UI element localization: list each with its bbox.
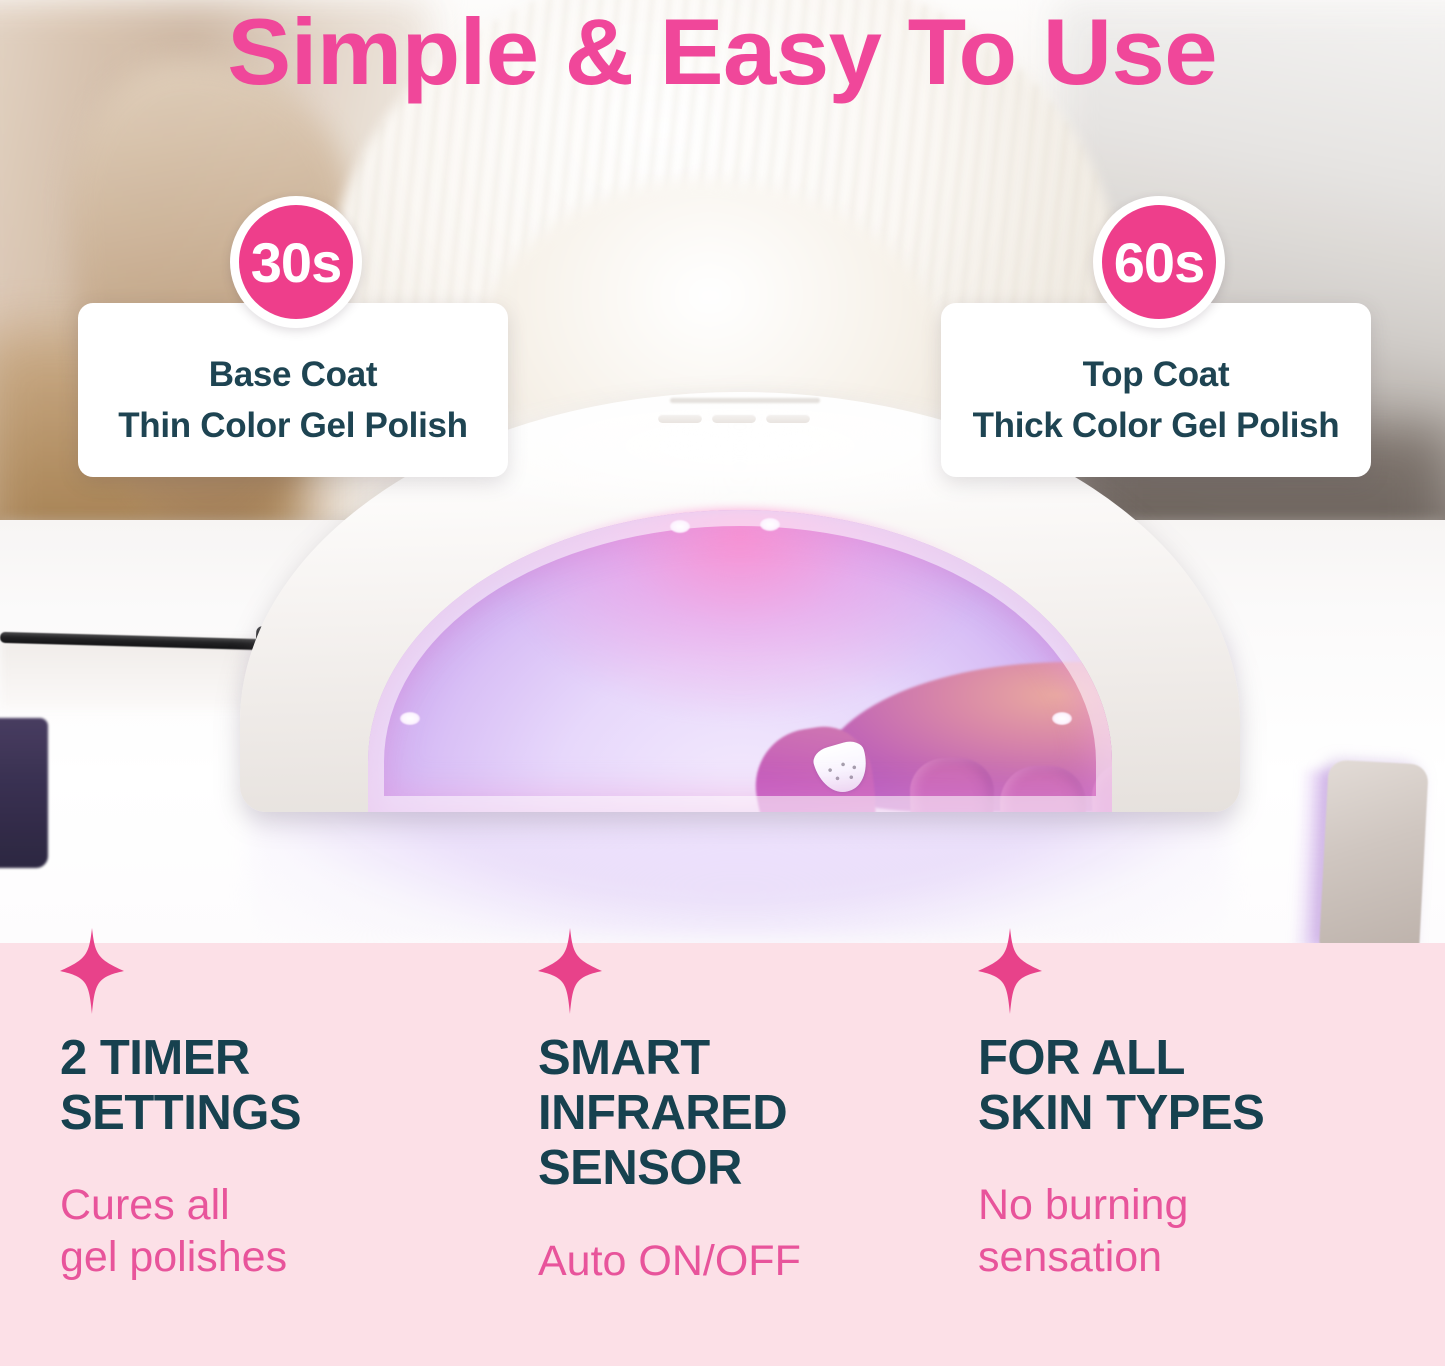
feature-heading: SMART INFRARED SENSOR: [538, 1031, 968, 1196]
callout-line-1: Top Coat: [957, 349, 1355, 400]
callout-line-2: Thick Color Gel Polish: [957, 400, 1355, 451]
nail-polish-bottle: [0, 718, 48, 868]
timer-badge-30s: 30s: [230, 196, 362, 328]
callout-card: Top Coat Thick Color Gel Polish: [941, 303, 1371, 477]
sparkle-icon: [60, 928, 124, 1014]
lamp-button-1[interactable]: [658, 414, 702, 423]
led-light-4: [1052, 712, 1072, 725]
nail-file: [1319, 760, 1429, 945]
lamp-top-slot: [670, 398, 820, 403]
lamp-button-3[interactable]: [766, 414, 810, 423]
product-feature-poster: Simple & Easy To Use Base Coat Thin Colo…: [0, 0, 1445, 1366]
callout-line-2: Thin Color Gel Polish: [94, 400, 492, 451]
feature-all-skin-types: FOR ALL SKIN TYPES No burning sensation: [978, 943, 1418, 1366]
timer-badge-60s: 60s: [1093, 196, 1225, 328]
feature-subtext: No burning sensation: [978, 1179, 1418, 1283]
features-panel: 2 TIMER SETTINGS Cures all gel polishes …: [0, 943, 1445, 1366]
callout-card: Base Coat Thin Color Gel Polish: [78, 303, 508, 477]
feature-subtext: Auto ON/OFF: [538, 1235, 968, 1287]
sparkle-icon: [538, 928, 602, 1014]
sparkle-icon: [978, 928, 1042, 1014]
feature-subtext: Cures all gel polishes: [60, 1179, 480, 1283]
feature-heading: FOR ALL SKIN TYPES: [978, 1031, 1418, 1141]
led-light-2: [760, 518, 780, 531]
lamp-button-2[interactable]: [712, 414, 756, 423]
feature-infrared-sensor: SMART INFRARED SENSOR Auto ON/OFF: [538, 943, 968, 1366]
feature-heading: 2 TIMER SETTINGS: [60, 1031, 480, 1141]
feature-timer-settings: 2 TIMER SETTINGS Cures all gel polishes: [60, 943, 480, 1366]
callout-line-1: Base Coat: [94, 349, 492, 400]
led-light-1: [670, 520, 690, 533]
led-light-3: [400, 712, 420, 725]
